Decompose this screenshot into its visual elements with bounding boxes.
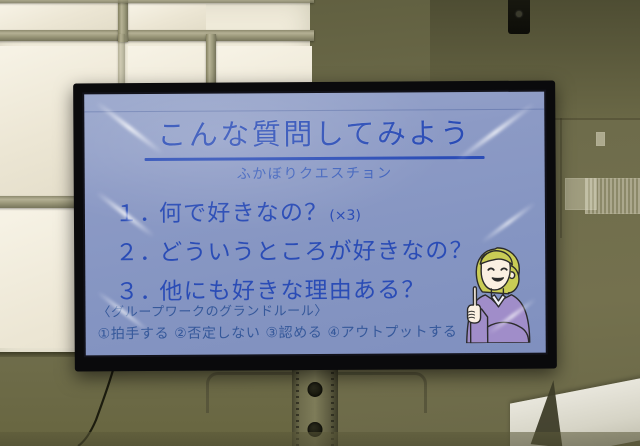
display-monitor[interactable]: こんな質問してみよう ふかぼりクエスチョン １． 何で好きなの？ (×3) ２．…	[73, 81, 557, 372]
stand-hole-upper	[308, 382, 323, 397]
monitor-screen[interactable]: こんな質問してみよう ふかぼりクエスチョン １． 何で好きなの？ (×3) ２．…	[84, 92, 546, 356]
question-number: １．	[115, 194, 159, 228]
wall-switch	[596, 132, 605, 146]
wall-vent-panel	[585, 178, 640, 214]
question-text: どういうところが好きなの？	[159, 231, 474, 267]
question-note: (×3)	[329, 208, 361, 224]
question-number: ２．	[115, 233, 159, 267]
slide-title-underline	[145, 156, 485, 161]
photo-scene: こんな質問してみよう ふかぼりクエスチョン １． 何で好きなの？ (×3) ２．…	[0, 0, 640, 446]
wall-seam-vertical	[560, 118, 562, 238]
stand-arm-right	[336, 372, 427, 413]
slide-subtitle: ふかぼりクエスチョン	[85, 162, 545, 185]
list-item: １． 何で好きなの？ (×3)	[115, 192, 531, 229]
stand-arm-left	[206, 372, 297, 413]
question-text: 何で好きなの？	[159, 193, 329, 228]
floor-strip	[0, 432, 640, 446]
slide-title: こんな質問してみよう	[84, 118, 544, 151]
camera-sensor-icon	[508, 0, 530, 34]
woman-pointing-illustration	[445, 239, 542, 344]
window-head	[0, 0, 314, 3]
camera-lens-icon	[516, 11, 522, 17]
presentation-slide: こんな質問してみよう ふかぼりクエスチョン １． 何で好きなの？ (×3) ２．…	[84, 92, 546, 356]
window-mullion-top	[0, 30, 314, 41]
